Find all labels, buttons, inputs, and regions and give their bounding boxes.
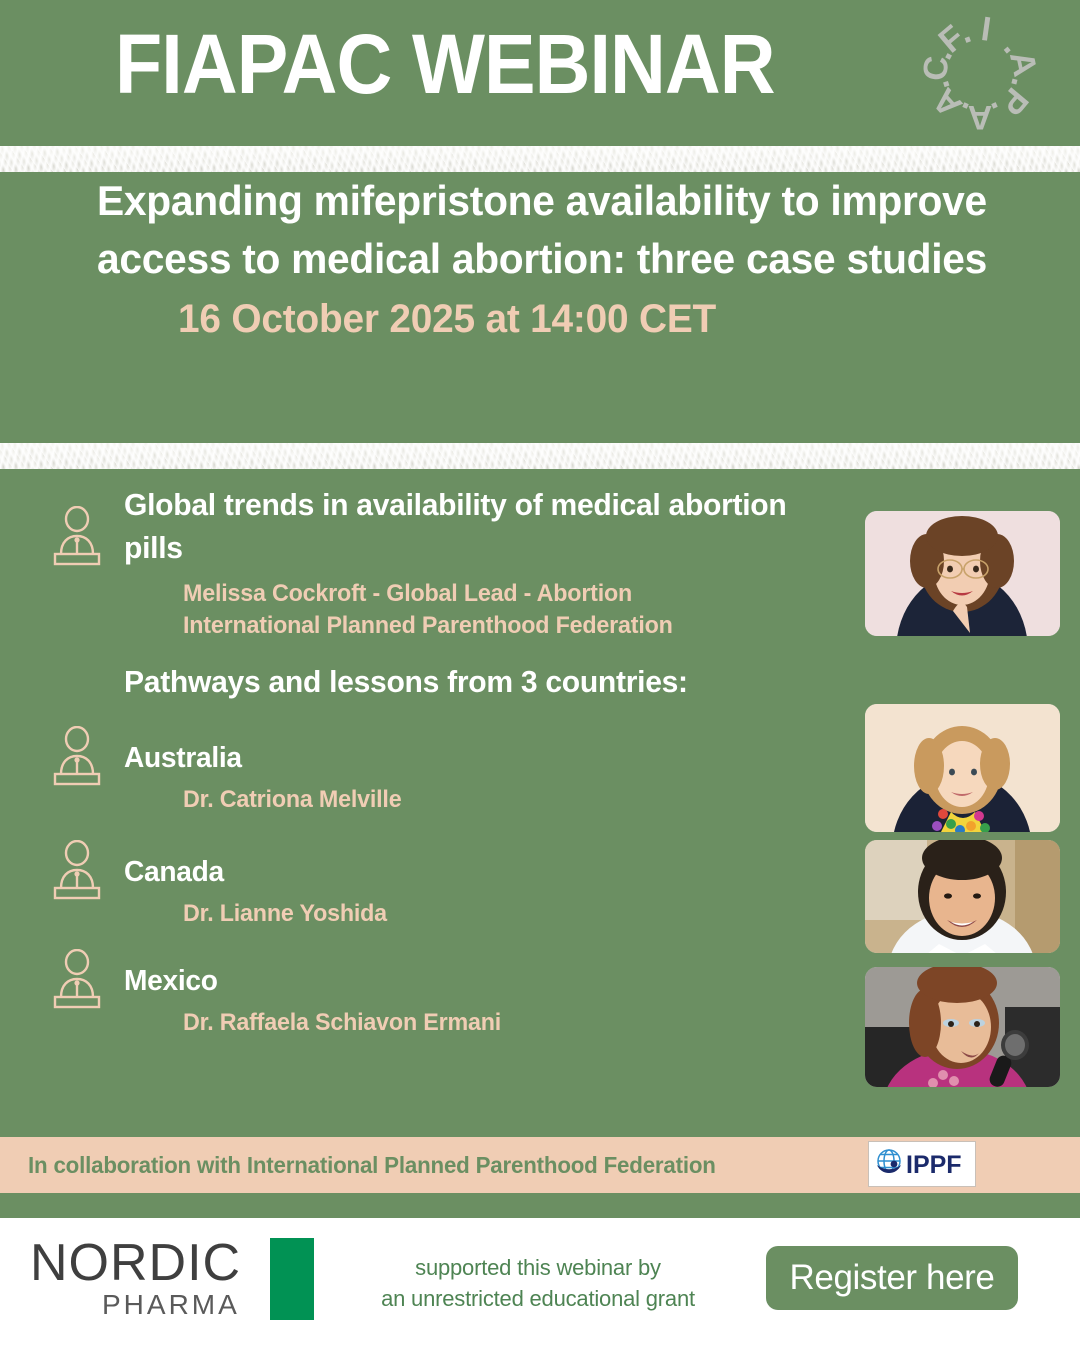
svg-text:I: I xyxy=(979,10,994,49)
portrait-melissa-cockroft xyxy=(865,511,1060,636)
poster-header: FIAPAC WEBINAR I . F . C . A . A . P . A xyxy=(0,0,1080,146)
grant-text: supported this webinar by an unrestricte… xyxy=(338,1252,738,1314)
country-name-australia: Australia xyxy=(124,742,242,775)
header-title: FIAPAC WEBINAR xyxy=(115,22,775,106)
country-speaker-australia: Dr. Catriona Melville xyxy=(183,784,401,815)
opening-session-title: Global trends in availability of medical… xyxy=(124,484,822,570)
svg-text:NORDIC: NORDIC xyxy=(30,1234,241,1292)
countries-section-heading: Pathways and lessons from 3 countries: xyxy=(124,664,688,700)
glitter-divider-top xyxy=(0,146,1080,172)
title-block: Expanding mifepristone availability to i… xyxy=(0,172,1080,342)
ippf-logo-text: IPPF xyxy=(906,1151,962,1179)
collaboration-text: In collaboration with International Plan… xyxy=(28,1152,716,1179)
register-button[interactable]: Register here xyxy=(766,1246,1018,1310)
country-name-canada: Canada xyxy=(124,856,224,889)
country-speaker-mexico: Dr. Raffaela Schiavon Ermani xyxy=(183,1007,501,1038)
nordic-pharma-logo: NORDIC PHARMA xyxy=(30,1232,320,1322)
ippf-logo: IPPF xyxy=(868,1141,976,1187)
portrait-catriona-melville xyxy=(865,704,1060,832)
grant-line-2: an unrestricted educational grant xyxy=(338,1283,738,1314)
portrait-raffaela-schiavon-ermani xyxy=(865,967,1060,1087)
portrait-lianne-yoshida xyxy=(865,840,1060,953)
svg-text:PHARMA: PHARMA xyxy=(102,1289,240,1320)
talk-title: Expanding mifepristone availability to i… xyxy=(97,172,992,289)
podium-speaker-icon xyxy=(48,506,106,568)
collaboration-bar: In collaboration with International Plan… xyxy=(0,1137,1080,1193)
opening-speaker-line-2: International Planned Parenthood Federat… xyxy=(183,610,852,641)
register-button-label: Register here xyxy=(790,1258,995,1298)
glitter-divider-bottom xyxy=(0,443,1080,469)
podium-speaker-icon xyxy=(48,840,106,902)
webinar-poster: FIAPAC WEBINAR I . F . C . A . A . P . A xyxy=(0,0,1080,1350)
opening-speaker-line-1: Melissa Cockroft - Global Lead - Abortio… xyxy=(183,578,852,609)
talk-date: 16 October 2025 at 14:00 CET xyxy=(178,297,1053,342)
grant-line-1: supported this webinar by xyxy=(338,1252,738,1283)
country-name-mexico: Mexico xyxy=(124,965,218,998)
fiapac-circular-logo: I . F . C . A . A . P . A . xyxy=(895,8,1065,138)
podium-speaker-icon xyxy=(48,949,106,1011)
country-speaker-canada: Dr. Lianne Yoshida xyxy=(183,898,387,929)
podium-speaker-icon xyxy=(48,726,106,788)
